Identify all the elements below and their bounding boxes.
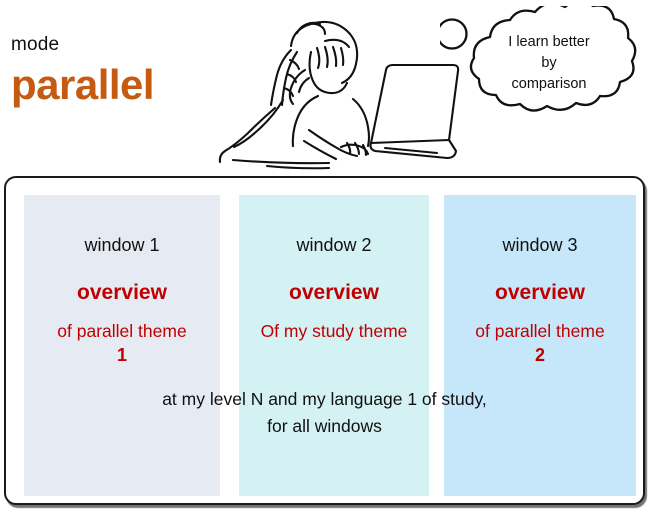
thought-bubble-line-2: by bbox=[470, 53, 628, 74]
thought-bubble-line-3: comparison bbox=[470, 74, 628, 95]
window-3-overview: overview bbox=[444, 281, 636, 305]
window-2-title: window 2 bbox=[239, 235, 429, 256]
header-area: mode parallel bbox=[0, 0, 656, 176]
window-1-title: window 1 bbox=[24, 235, 220, 256]
mode-label: mode bbox=[11, 34, 59, 56]
window-3-number: 2 bbox=[444, 345, 636, 366]
window-3-description: of parallel theme bbox=[444, 320, 636, 342]
thought-bubble-text: I learn better by comparison bbox=[470, 32, 628, 95]
window-panel-3[interactable]: window 3 overview of parallel theme 2 bbox=[444, 195, 636, 496]
window-panel-2[interactable]: window 2 overview Of my study theme bbox=[239, 195, 429, 496]
thought-bubble-line-1: I learn better bbox=[470, 32, 628, 53]
window-3-title: window 3 bbox=[444, 235, 636, 256]
window-2-overview: overview bbox=[239, 281, 429, 305]
mode-value: parallel bbox=[11, 64, 154, 106]
windows-container: window 1 overview of parallel theme 1 wi… bbox=[4, 176, 645, 505]
window-2-description: Of my study theme bbox=[239, 320, 429, 342]
window-1-overview: overview bbox=[24, 281, 220, 305]
window-1-number: 1 bbox=[24, 345, 220, 366]
window-panel-1[interactable]: window 1 overview of parallel theme 1 bbox=[24, 195, 220, 496]
person-studying-at-laptop-illustration bbox=[205, 0, 465, 176]
window-1-description: of parallel theme bbox=[24, 320, 220, 342]
